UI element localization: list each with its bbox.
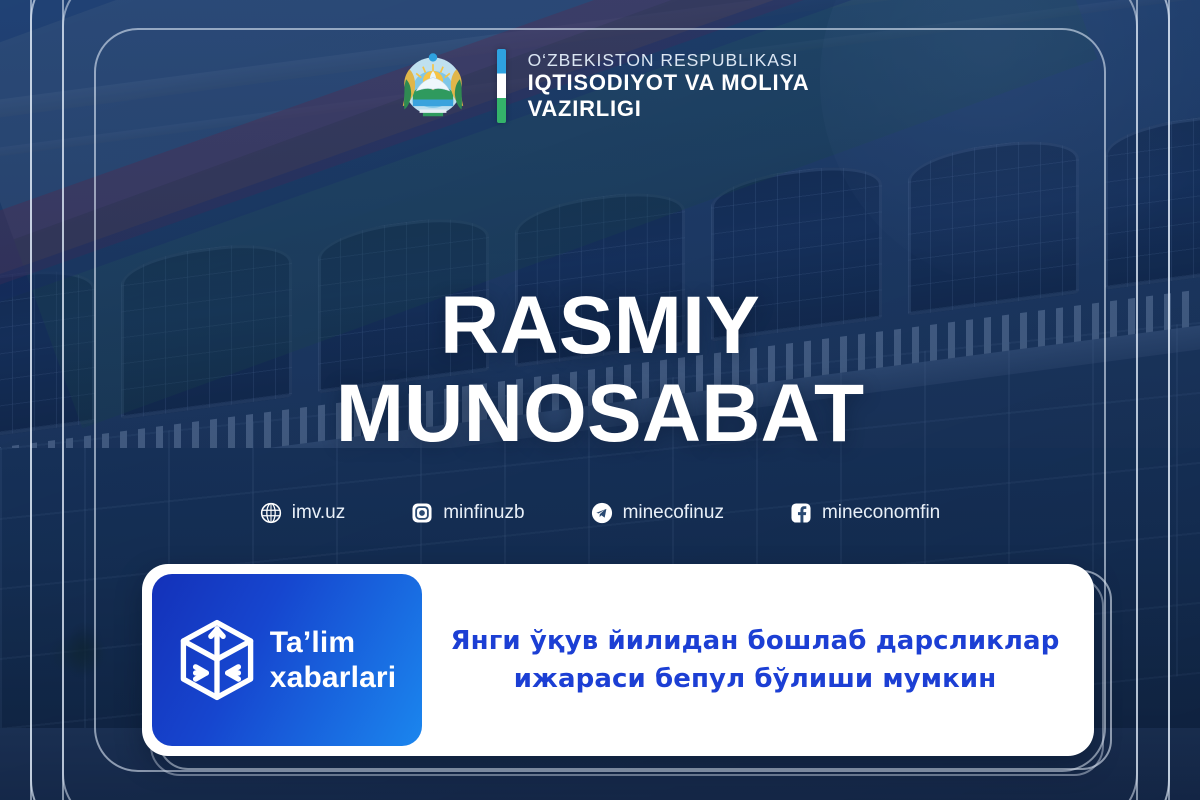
news-headline: Янги ўқув йилидан бошлаб дарсликлар ижар… — [442, 622, 1068, 699]
social-links-row: imv.uz minfinuzb minecofinuz mineco — [0, 502, 1200, 524]
uzbekistan-flag-bar — [497, 49, 506, 123]
brand-text-block: Ta’lim xabarlari — [270, 625, 396, 696]
news-card: Ta’lim xabarlari Янги ўқув йилидан бошла… — [142, 564, 1094, 756]
social-label-facebook: mineconomfin — [822, 502, 940, 524]
ministry-line-2: IQTISODIYOT VA MOLIYA — [528, 70, 810, 96]
news-headline-area: Янги ўқув йилидан бошлаб дарсликлар ижар… — [432, 564, 1094, 756]
title-line-1: RASMIY — [0, 286, 1200, 366]
instagram-icon — [411, 502, 433, 524]
ministry-header: O‘ZBEKISTON RESPUBLIKASI IQTISODIYOT VA … — [0, 44, 1200, 128]
social-link-website[interactable]: imv.uz — [260, 502, 345, 524]
social-label-telegram: minecofinuz — [623, 502, 724, 524]
social-label-website: imv.uz — [292, 502, 345, 524]
telegram-icon — [591, 502, 613, 524]
talim-xabarlari-brand-tile[interactable]: Ta’lim xabarlari — [152, 574, 422, 746]
poster-canvas: O‘ZBEKISTON RESPUBLIKASI IQTISODIYOT VA … — [0, 0, 1200, 800]
poster-title: RASMIY MUNOSABAT — [0, 286, 1200, 455]
brand-line-1: Ta’lim — [270, 625, 396, 660]
globe-icon — [260, 502, 282, 524]
facebook-icon — [790, 502, 812, 524]
ministry-name-block: O‘ZBEKISTON RESPUBLIKASI IQTISODIYOT VA … — [528, 50, 810, 123]
uzbekistan-coat-of-arms — [391, 44, 475, 128]
social-link-telegram[interactable]: minecofinuz — [591, 502, 724, 524]
brand-line-2: xabarlari — [270, 660, 396, 695]
social-label-instagram: minfinuzb — [443, 502, 524, 524]
ministry-line-1: O‘ZBEKISTON RESPUBLIKASI — [528, 50, 810, 71]
social-link-facebook[interactable]: mineconomfin — [790, 502, 940, 524]
title-line-2: MUNOSABAT — [0, 374, 1200, 454]
ministry-line-3: VAZIRLIGI — [528, 96, 810, 122]
social-link-instagram[interactable]: minfinuzb — [411, 502, 524, 524]
cube-logo-icon — [178, 618, 256, 702]
